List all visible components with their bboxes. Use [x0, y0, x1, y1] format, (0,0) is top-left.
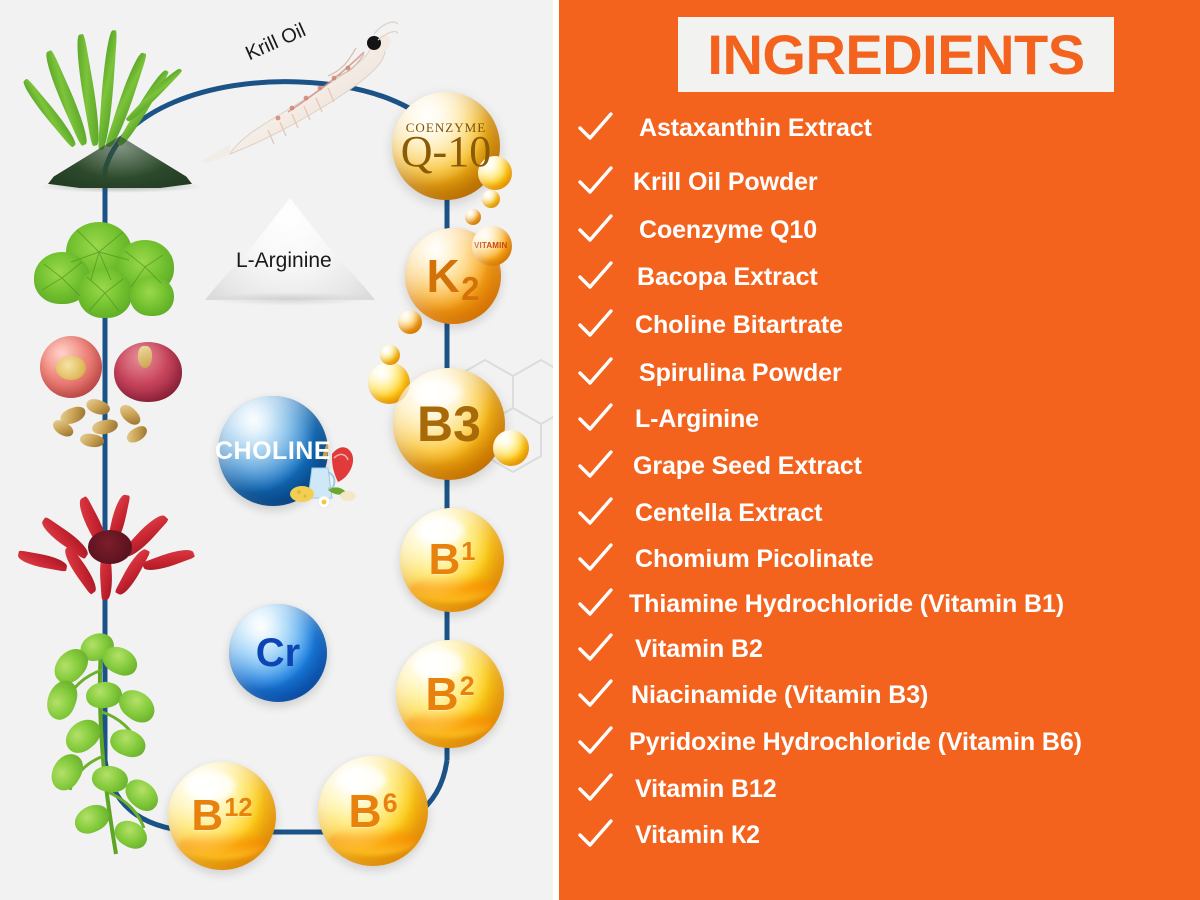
ingredient-diagram-panel: Krill Oil COENZYME Q-10 L-Arginine K2 VI…: [0, 0, 553, 900]
check-icon: [577, 496, 617, 530]
ingredient-label: Choline Bitartrate: [635, 311, 843, 340]
ingredient-label: L-Arginine: [635, 405, 759, 434]
ingredient-label: Vitamin К2: [635, 821, 760, 850]
bacopa-illustration: [28, 630, 188, 860]
check-icon: [577, 725, 617, 759]
vitamin-b6-number: 6: [383, 790, 398, 817]
ingredient-label: Chomium Picolinate: [635, 545, 874, 574]
vitamin-k2-letter: K: [427, 253, 460, 299]
vitamin-b6-letter: B: [348, 788, 381, 834]
ingredient-label: Krill Oil Powder: [633, 168, 818, 197]
ingredient-row[interactable]: L-Arginine: [559, 399, 759, 439]
title-box: INGREDIENTS: [678, 17, 1114, 92]
ingredient-label: Vitamin B2: [635, 635, 763, 664]
ingredient-row[interactable]: Coenzyme Q10: [559, 210, 817, 250]
check-icon: [577, 632, 617, 666]
ingredient-label: Thiamine Hydrochloride (Vitamin B1): [629, 590, 1064, 619]
ingredient-row[interactable]: Bacopa Extract: [559, 257, 818, 297]
ingredient-row[interactable]: Grape Seed Extract: [559, 446, 862, 486]
check-icon: [577, 587, 617, 621]
vitamin-b2-letter: B: [425, 671, 458, 717]
ingredient-row[interactable]: Vitamin B2: [559, 629, 763, 669]
page-title: INGREDIENTS: [707, 27, 1084, 83]
b3-bubble-top: [380, 345, 400, 365]
ingredient-row[interactable]: Niacinamide (Vitamin B3): [559, 675, 928, 715]
check-icon: [577, 356, 617, 390]
chromium-capsule: Cr: [229, 604, 327, 702]
vitamin-b6-capsule: B6: [318, 756, 428, 866]
check-icon: [577, 213, 617, 247]
choline-label: CHOLINE: [215, 439, 331, 464]
ingredient-label: Astaxanthin Extract: [639, 114, 872, 143]
coenzyme-q10-main-label: Q-10: [401, 132, 491, 172]
check-icon: [577, 308, 617, 342]
ingredient-label: Pyridoxine Hydrochloride (Vitamin B6): [629, 728, 1082, 757]
ingredient-label: Centella Extract: [635, 499, 822, 528]
centella-illustration: [30, 218, 190, 326]
check-icon: [577, 111, 617, 145]
k2-bubble-bottom: [398, 310, 422, 334]
ingredient-row[interactable]: Centella Extract: [559, 493, 822, 533]
b3-bubble-left: [368, 362, 410, 404]
ingredient-label: Bacopa Extract: [637, 263, 818, 292]
ingredients-panel: INGREDIENTS Astaxanthin ExtractKrill Oil…: [559, 0, 1200, 900]
vitamin-b12-number: 12: [224, 796, 252, 822]
ingredient-label: Grape Seed Extract: [633, 452, 862, 481]
ingredient-label: Vitamin B12: [635, 775, 777, 804]
ingredient-row[interactable]: Chomium Picolinate: [559, 539, 874, 579]
ingredient-label: Coenzyme Q10: [639, 216, 817, 245]
check-icon: [577, 818, 617, 852]
ingredient-row[interactable]: Thiamine Hydrochloride (Vitamin B1): [559, 584, 1064, 624]
check-icon: [577, 165, 617, 199]
k2-bubble-small: [465, 209, 481, 225]
vitamin-b12-letter: B: [191, 794, 223, 838]
vitamin-k2-number: 2: [461, 273, 479, 306]
ingredient-row[interactable]: Pyridoxine Hydrochloride (Vitamin B6): [559, 722, 1082, 762]
ingredients-list: Astaxanthin ExtractKrill Oil PowderCoenz…: [559, 105, 1200, 865]
ingredient-row[interactable]: Vitamin К2: [559, 815, 760, 855]
vitamin-b2-number: 2: [460, 673, 475, 700]
ingredient-label: Spirulina Powder: [639, 359, 842, 388]
check-icon: [577, 402, 617, 436]
vitamin-b1-capsule: B1: [400, 508, 504, 612]
ingredient-row[interactable]: Spirulina Powder: [559, 353, 842, 393]
red-algae-illustration: [30, 492, 200, 610]
b3-bubble-right: [493, 430, 529, 466]
infographic-root: Krill Oil COENZYME Q-10 L-Arginine K2 VI…: [0, 0, 1200, 900]
ingredient-label: Niacinamide (Vitamin B3): [631, 681, 928, 710]
l-arginine-label: L-Arginine: [236, 249, 332, 273]
ingredient-row[interactable]: Krill Oil Powder: [559, 162, 818, 202]
check-icon: [577, 449, 617, 483]
chromium-label: Cr: [256, 633, 300, 673]
vitamin-b1-letter: B: [429, 538, 461, 582]
check-icon: [577, 772, 617, 806]
vitamin-b3-label: B3: [417, 399, 481, 449]
ingredient-row[interactable]: Astaxanthin Extract: [559, 108, 872, 148]
vitamin-b2-capsule: B2: [396, 640, 504, 748]
check-icon: [577, 260, 617, 294]
ingredient-row[interactable]: Vitamin B12: [559, 769, 777, 809]
vitamin-badge-label: VITAMIN: [474, 241, 507, 250]
ingredient-row[interactable]: Choline Bitartrate: [559, 305, 843, 345]
grape-seed-illustration: [40, 336, 190, 456]
check-icon: [577, 678, 617, 712]
vitamin-b1-number: 1: [461, 540, 475, 566]
q10-bubble-small: [482, 190, 500, 208]
check-icon: [577, 542, 617, 576]
